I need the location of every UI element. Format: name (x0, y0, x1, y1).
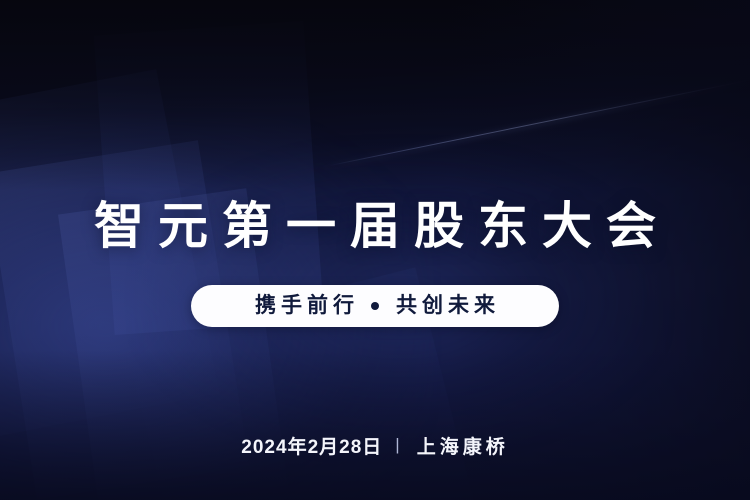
bullet-dot-icon (371, 302, 379, 310)
footer-separator: | (395, 435, 399, 455)
poster-content: 智元第一届股东大会 携手前行 共创未来 2024年2月28日 | 上海康桥 (0, 0, 750, 500)
slogan-text-right: 共创未来 (391, 295, 500, 317)
slogan-text-left: 携手前行 (250, 295, 359, 317)
event-poster: 智元第一届股东大会 携手前行 共创未来 2024年2月28日 | 上海康桥 (0, 0, 750, 500)
poster-title: 智元第一届股东大会 (0, 196, 750, 256)
poster-footer: 2024年2月28日 | 上海康桥 (0, 432, 750, 459)
slogan-badge: 携手前行 共创未来 (191, 285, 559, 327)
event-location: 上海康桥 (413, 432, 509, 459)
event-date: 2024年2月28日 (241, 432, 382, 459)
